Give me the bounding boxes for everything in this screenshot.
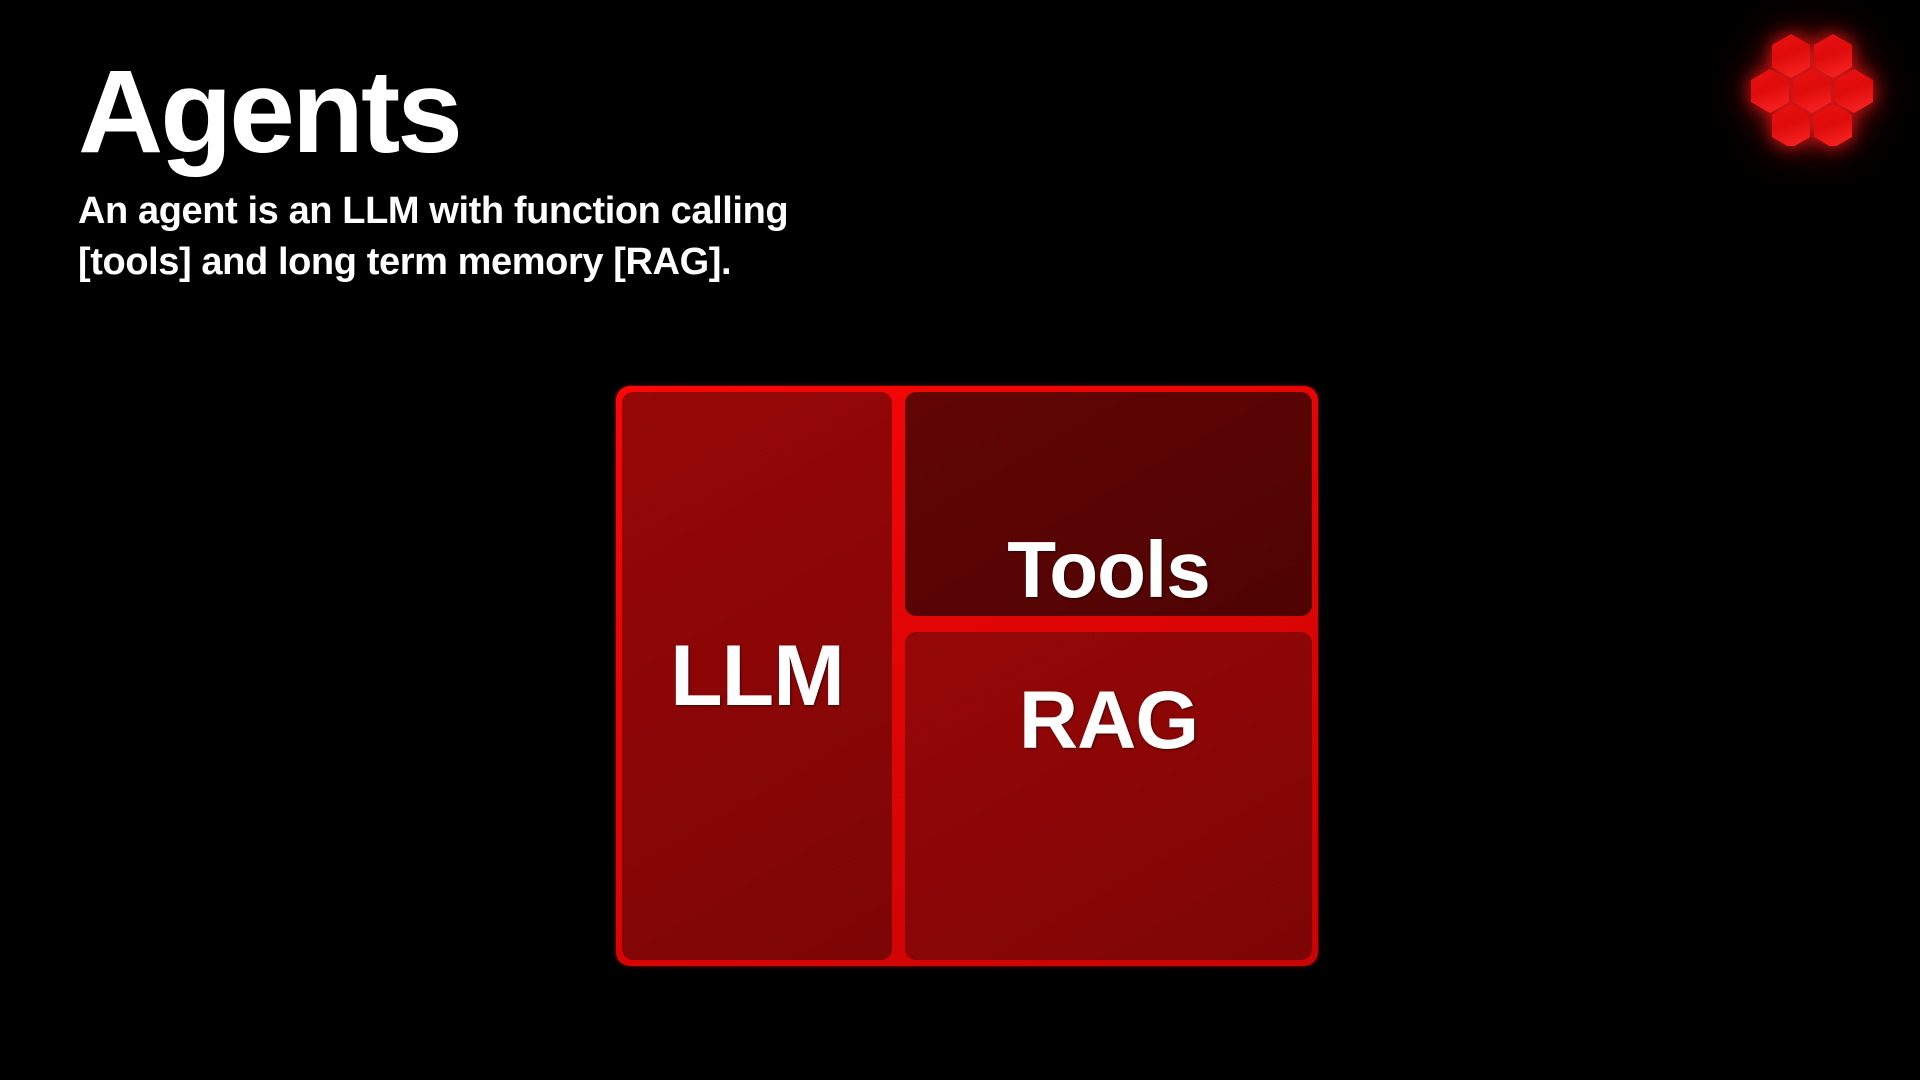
slide-subtitle: An agent is an LLM with function calling… [78,186,1178,286]
panel-tools-label: Tools [1007,530,1209,610]
panel-rag[interactable]: RAG [905,632,1312,960]
agent-architecture-diagram: LLM Tools RAG [616,386,1318,966]
hexagon-cluster-logo [1750,22,1878,146]
subtitle-line-2: [tools] and long term memory [RAG]. [78,237,1178,287]
hexagon-cluster-icon [1750,22,1878,146]
page-title: Agents [78,52,1178,172]
panel-llm-label: LLM [670,633,844,719]
panel-llm[interactable]: LLM [622,392,892,960]
panel-rag-label: RAG [1019,680,1198,762]
panel-tools[interactable]: Tools [905,392,1312,616]
slide-canvas: Agents An agent is an LLM with function … [0,0,1920,1080]
panel-right-column: Tools RAG [905,392,1312,960]
subtitle-line-1: An agent is an LLM with function calling [78,186,1178,236]
title-block: Agents An agent is an LLM with function … [78,52,1178,287]
